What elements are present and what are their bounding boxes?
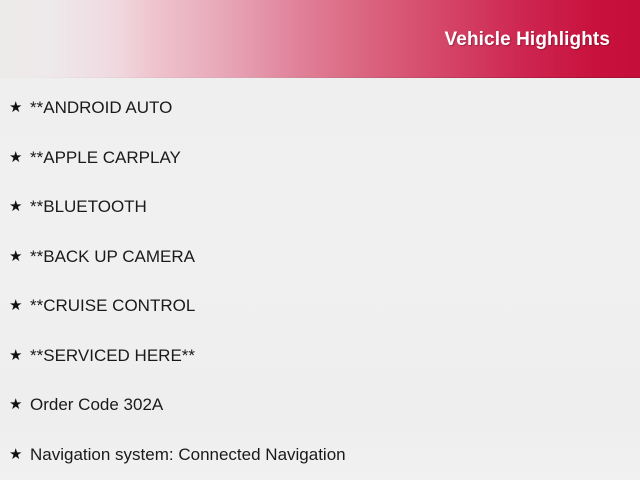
highlight-label: **CRUISE CONTROL [30, 295, 640, 316]
highlight-label: **SERVICED HERE** [30, 345, 640, 366]
star-icon: ★ [9, 246, 30, 267]
highlight-label: **BLUETOOTH [30, 196, 640, 217]
highlight-label: **APPLE CARPLAY [30, 147, 640, 168]
star-icon: ★ [9, 147, 30, 168]
highlight-label: Navigation system: Connected Navigation [30, 444, 640, 465]
star-icon: ★ [9, 444, 30, 465]
star-icon: ★ [9, 295, 30, 316]
highlights-list: ★ **ANDROID AUTO ★ **APPLE CARPLAY ★ **B… [0, 78, 640, 474]
highlight-label: Order Code 302A [30, 394, 640, 415]
vehicle-highlights-slide: Vehicle Highlights ★ **ANDROID AUTO ★ **… [0, 0, 640, 480]
highlight-label: **BACK UP CAMERA [30, 246, 640, 267]
star-icon: ★ [9, 196, 30, 217]
star-icon: ★ [9, 97, 30, 118]
list-item: ★ **SERVICED HERE** [0, 326, 640, 376]
list-item: ★ Navigation system: Connected Navigatio… [0, 425, 640, 475]
page-title: Vehicle Highlights [445, 29, 610, 51]
list-item: ★ **BLUETOOTH [0, 177, 640, 227]
star-icon: ★ [9, 345, 30, 366]
list-item: ★ **CRUISE CONTROL [0, 276, 640, 326]
list-item: ★ **APPLE CARPLAY [0, 128, 640, 178]
list-item: ★ Order Code 302A [0, 375, 640, 425]
star-icon: ★ [9, 394, 30, 415]
list-item: ★ **ANDROID AUTO [0, 78, 640, 128]
highlight-label: **ANDROID AUTO [30, 97, 640, 118]
header-banner: Vehicle Highlights [0, 0, 640, 78]
list-item: ★ **BACK UP CAMERA [0, 227, 640, 277]
